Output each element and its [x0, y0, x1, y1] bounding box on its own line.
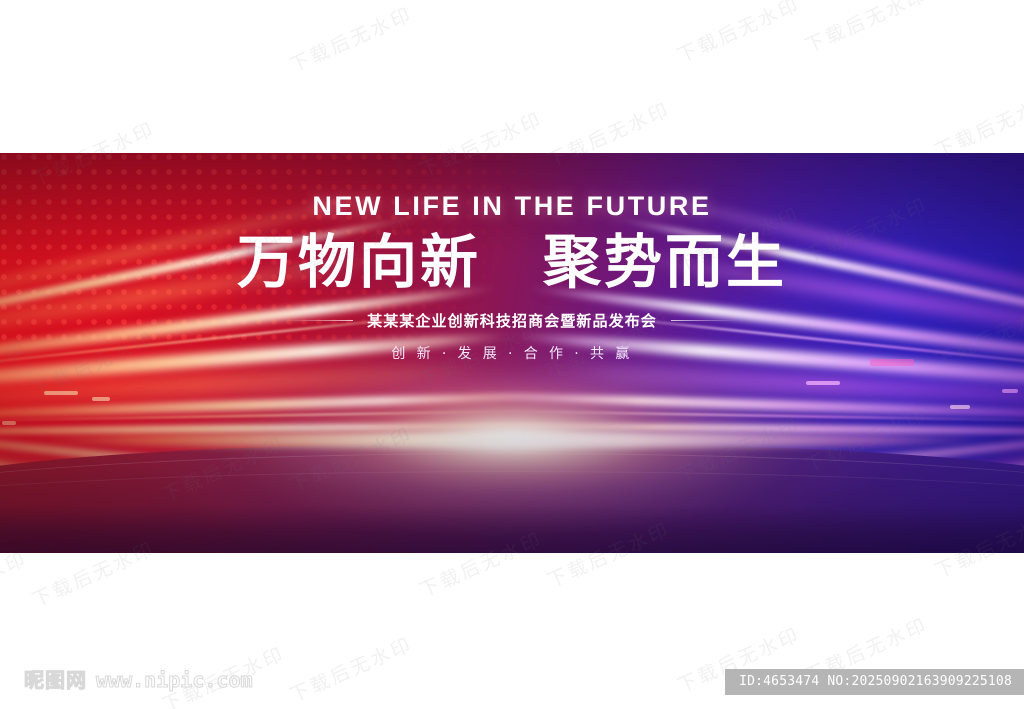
watermark-text: 下载后无水印	[287, 3, 417, 77]
subtitle-rule-left	[287, 320, 353, 321]
chinese-headline: 万物向新聚势而生	[0, 231, 1024, 294]
slogan-text: 创 新 · 发 展 · 合 作 · 共 赢	[0, 343, 1024, 363]
watermark-text: 下载后无水印	[0, 548, 31, 622]
english-headline: NEW LIFE IN THE FUTURE	[0, 193, 1024, 220]
site-logo[interactable]: 昵图网 www.nipic.com	[24, 664, 253, 693]
watermark-text: 下载后无水印	[802, 0, 932, 58]
site-logo-url: www.nipic.com	[96, 668, 253, 692]
page-canvas: NEW LIFE IN THE FUTURE 万物向新聚势而生 某某某企业创新科…	[0, 0, 1024, 709]
watermark-text: 下载后无水印	[287, 633, 417, 707]
chinese-headline-left: 万物向新	[237, 228, 481, 296]
subtitle-row: 某某某企业创新科技招商会暨新品发布会	[0, 310, 1024, 331]
asset-id-badge: ID:4653474 NO:20250902163909225108	[725, 669, 1024, 695]
site-logo-cn: 昵图网	[24, 664, 87, 693]
watermark-text: 下载后无水印	[932, 89, 1024, 163]
chinese-headline-right: 聚势而生	[543, 228, 787, 296]
subtitle-text: 某某某企业创新科技招商会暨新品发布会	[367, 310, 657, 331]
subtitle-rule-right	[671, 320, 737, 321]
banner-artwork: NEW LIFE IN THE FUTURE 万物向新聚势而生 某某某企业创新科…	[0, 153, 1024, 553]
watermark-text: 下载后无水印	[674, 0, 804, 67]
banner-text-block: NEW LIFE IN THE FUTURE 万物向新聚势而生 某某某企业创新科…	[0, 193, 1024, 363]
